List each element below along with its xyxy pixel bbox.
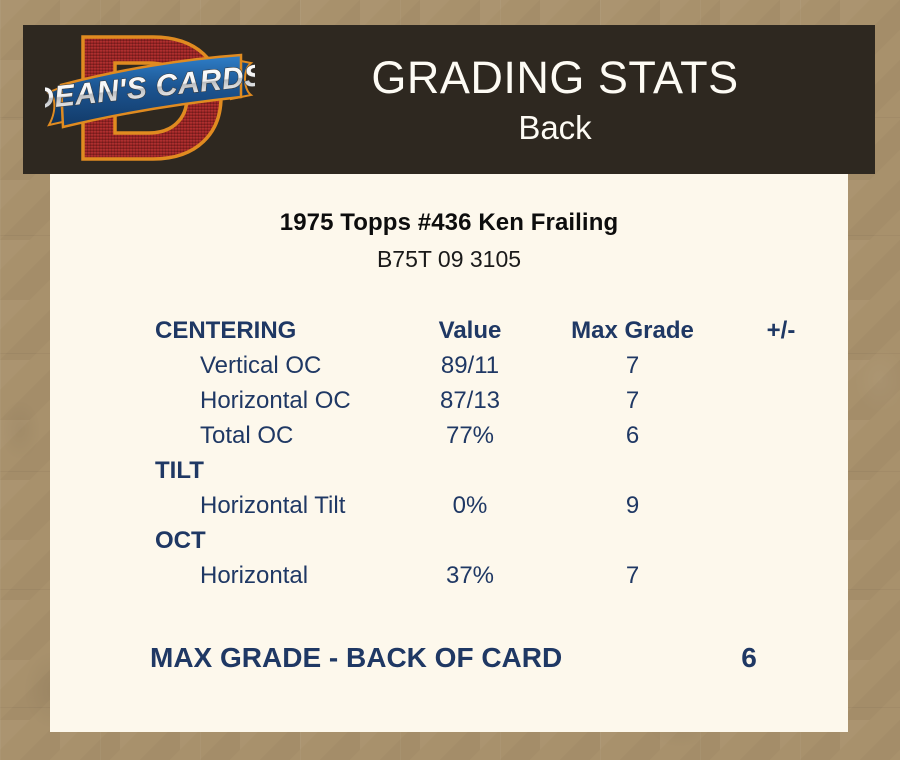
stats-panel: 1975 Topps #436 Ken Frailing B75T 09 310… [50,174,848,732]
row-label: Total OC [50,418,395,453]
summary-row: MAX GRADE - BACK OF CARD 6 [50,641,848,675]
card-title: 1975 Topps #436 Ken Frailing [50,209,848,237]
column-header-max-grade: Max Grade [545,313,720,348]
group-spacer-cell [395,453,545,488]
row-max-grade: 9 [545,488,720,523]
grading-stats-table: CENTERING Value Max Grade +/- Vertical O… [50,313,848,593]
row-plus-minus [720,488,848,523]
table-group-row: OCT [50,523,848,558]
table-row: Horizontal OC87/137 [50,383,848,418]
deans-cards-logo[interactable]: DEAN'S CARDS [23,25,275,174]
row-plus-minus [720,383,848,418]
row-value: 87/13 [395,383,545,418]
row-value: 0% [395,488,545,523]
row-max-grade: 7 [545,383,720,418]
table-header-row: CENTERING Value Max Grade +/- [50,313,848,348]
summary-label: MAX GRADE - BACK OF CARD [50,641,650,675]
table-row: Total OC77%6 [50,418,848,453]
page-subtitle: Back [275,111,835,144]
group-spacer-cell [395,523,545,558]
group-spacer-cell [720,523,848,558]
column-header-plus-minus: +/- [720,313,848,348]
summary-value: 6 [650,641,848,675]
group-spacer-cell [545,453,720,488]
group-spacer-cell [545,523,720,558]
row-max-grade: 7 [545,348,720,383]
header-title-block: GRADING STATS Back [275,55,875,144]
row-value: 89/11 [395,348,545,383]
row-label: Horizontal [50,558,395,593]
row-label: Horizontal OC [50,383,395,418]
page-title: GRADING STATS [275,55,835,100]
row-value: 77% [395,418,545,453]
table-row: Vertical OC89/117 [50,348,848,383]
group-label: OCT [50,523,395,558]
row-max-grade: 7 [545,558,720,593]
table-row: Horizontal37%7 [50,558,848,593]
row-plus-minus [720,418,848,453]
row-label: Horizontal Tilt [50,488,395,523]
row-plus-minus [720,558,848,593]
row-value: 37% [395,558,545,593]
row-label: Vertical OC [50,348,395,383]
table-body: Vertical OC89/117Horizontal OC87/137Tota… [50,348,848,593]
table-group-row: TILT [50,453,848,488]
table-row: Horizontal Tilt0%9 [50,488,848,523]
group-spacer-cell [720,453,848,488]
table-header: CENTERING Value Max Grade +/- [50,313,848,348]
group-label: TILT [50,453,395,488]
logo-graphic: DEAN'S CARDS [45,29,255,169]
header-bar: DEAN'S CARDS GRADING STATS Back [23,25,875,174]
card-serial-number: B75T 09 3105 [50,246,848,273]
column-header-centering: CENTERING [50,313,395,348]
summary-table: MAX GRADE - BACK OF CARD 6 [50,641,848,675]
column-header-value: Value [395,313,545,348]
row-max-grade: 6 [545,418,720,453]
row-plus-minus [720,348,848,383]
